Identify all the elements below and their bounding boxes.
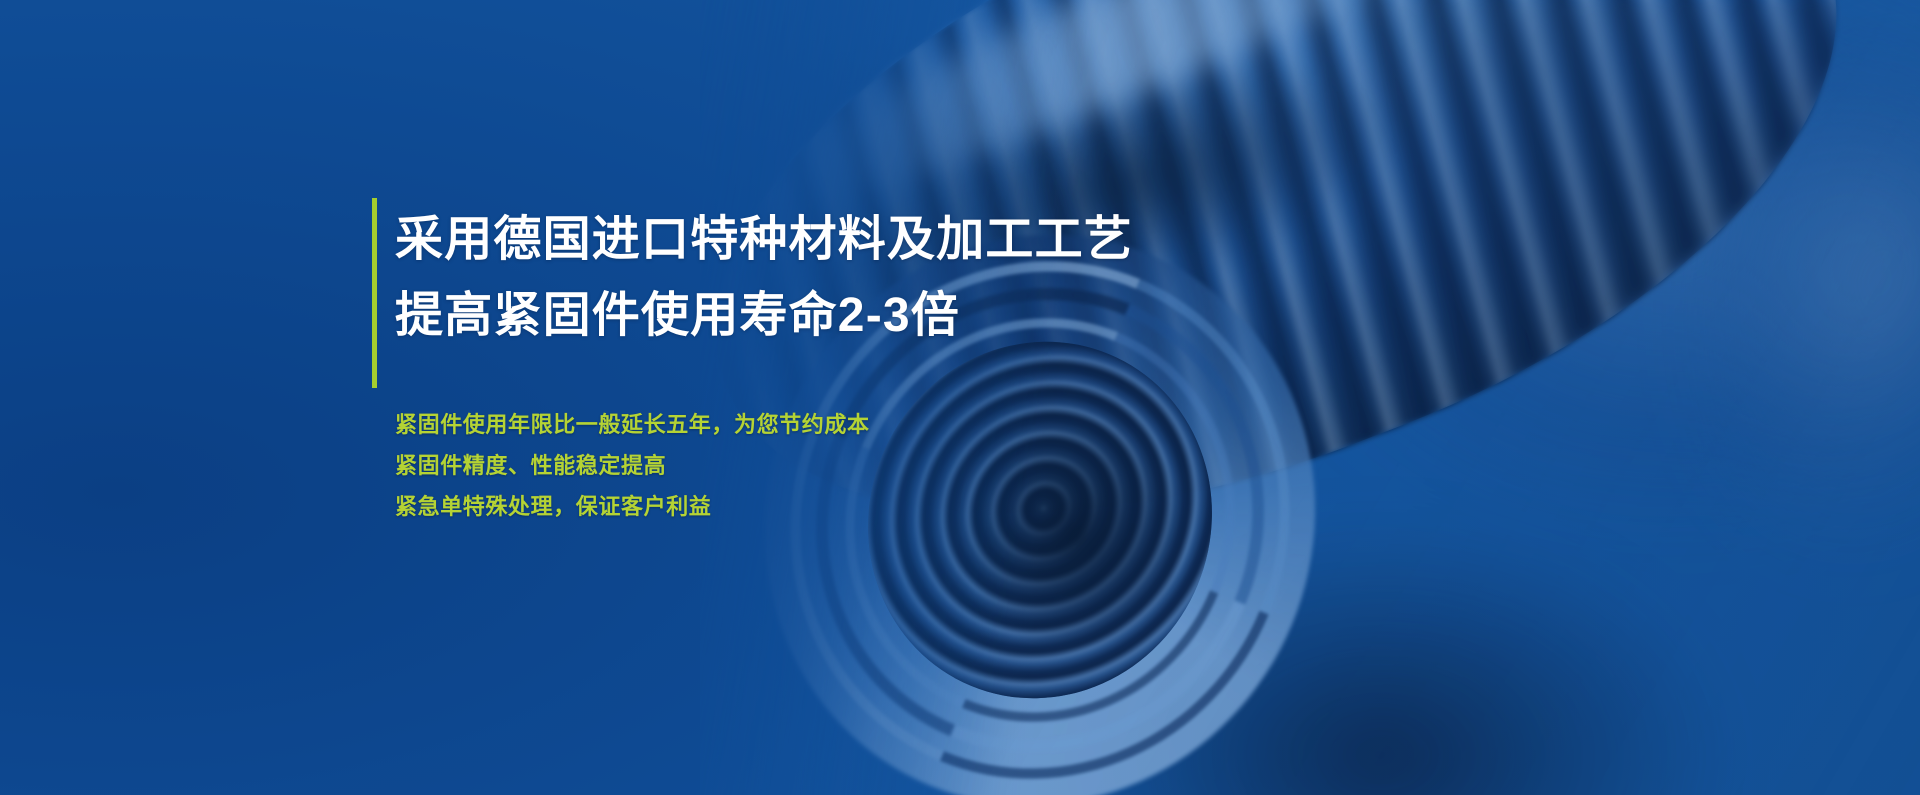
headline-group: 采用德国进口特种材料及加工工艺 提高紧固件使用寿命2-3倍 (372, 196, 1472, 388)
benefit-list: 紧固件使用年限比一般延长五年，为您节约成本 紧固件精度、性能稳定提高 紧急单特殊… (372, 404, 1472, 527)
promo-banner: 采用德国进口特种材料及加工工艺 提高紧固件使用寿命2-3倍 紧固件使用年限比一般… (0, 0, 1920, 795)
benefit-item-2: 紧固件精度、性能稳定提高 (395, 445, 1472, 486)
accent-bar (372, 198, 377, 388)
banner-content: 采用德国进口特种材料及加工工艺 提高紧固件使用寿命2-3倍 紧固件使用年限比一般… (372, 196, 1472, 527)
benefit-item-3: 紧急单特殊处理，保证客户利益 (395, 486, 1472, 527)
headline-line-1: 采用德国进口特种材料及加工工艺 (395, 196, 1472, 272)
benefit-item-1: 紧固件使用年限比一般延长五年，为您节约成本 (395, 404, 1472, 445)
headline-line-2: 提高紧固件使用寿命2-3倍 (395, 272, 1472, 348)
